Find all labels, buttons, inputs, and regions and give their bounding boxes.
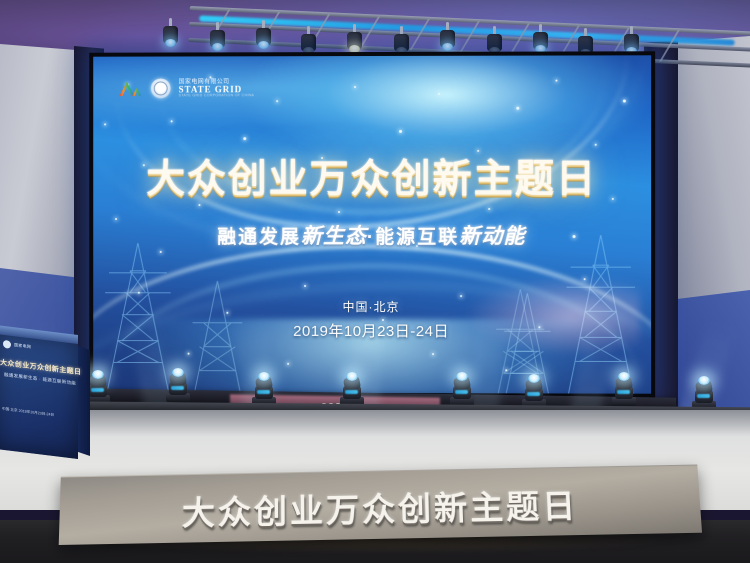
moving-head-light [522, 374, 546, 408]
mountain-a-logo-icon [117, 79, 143, 99]
event-location: 中国·北京 [293, 298, 449, 315]
subtitle-part-1: 融通发展 [217, 227, 301, 248]
truss-spotlight [440, 22, 455, 52]
event-date: 2019年10月23日-24日 [293, 320, 449, 341]
subtitle-separator: · [367, 227, 375, 248]
truss-spotlight [533, 24, 548, 54]
subtitle-cursive-2: 新动能 [459, 223, 525, 248]
state-grid-company-en-sub: STATE GRID CORPORATION OF CHINA [179, 94, 255, 98]
podium-logo: 国家电网 [3, 340, 31, 351]
podium-meta: 中国·北京 2019年10月23日-24日 [2, 406, 54, 419]
subtitle-part-2: 能源互联 [375, 227, 459, 248]
led-backdrop-screen: 国家电网有限公司 STATE GRID STATE GRID CORPORATI… [89, 51, 655, 397]
speaker-podium: 国家电网 大众创业万众创新主题日 融通发展新生态 · 能源互联新动能 中国·北京… [0, 331, 78, 459]
truss-spotlight [163, 18, 178, 48]
podium-logo-text: 国家电网 [14, 342, 31, 350]
podium-side-panel [76, 345, 90, 456]
state-grid-globe-icon [151, 78, 171, 98]
truss-spotlight [210, 22, 225, 52]
state-grid-wordmark: 国家电网有限公司 STATE GRID STATE GRID CORPORATI… [179, 79, 255, 98]
truss-spotlight [347, 24, 362, 54]
foreground-title-plaque: 大众创业万众创新主题日 [59, 465, 702, 545]
podium-front-panel: 国家电网 大众创业万众创新主题日 融通发展新生态 · 能源互联新动能 中国·北京… [0, 331, 78, 459]
led-screen-surface: 国家电网有限公司 STATE GRID STATE GRID CORPORATI… [93, 55, 651, 393]
moving-head-light [166, 368, 190, 402]
podium-state-grid-icon [3, 340, 11, 349]
moving-head-light [252, 372, 276, 406]
event-main-title: 大众创业万众创新主题日 [146, 148, 597, 204]
moving-head-light [340, 372, 364, 406]
subtitle-cursive-1: 新生态 [301, 223, 367, 248]
moving-head-light [692, 376, 716, 410]
screen-logo-row: 国家电网有限公司 STATE GRID STATE GRID CORPORATI… [117, 78, 254, 98]
plaque-title-text: 大众创业万众创新主题日 [59, 477, 702, 537]
conference-stage-photo: 国家电网有限公司 STATE GRID STATE GRID CORPORATI… [0, 0, 750, 563]
moving-head-light [450, 372, 474, 406]
truss-spotlight [256, 20, 271, 50]
event-subtitle: 融通发展新生态·能源互联新动能 [217, 220, 525, 250]
event-meta: 中国·北京 2019年10月23日-24日 [293, 298, 449, 341]
moving-head-light [612, 372, 636, 406]
stage-floor-shadow [0, 410, 750, 436]
